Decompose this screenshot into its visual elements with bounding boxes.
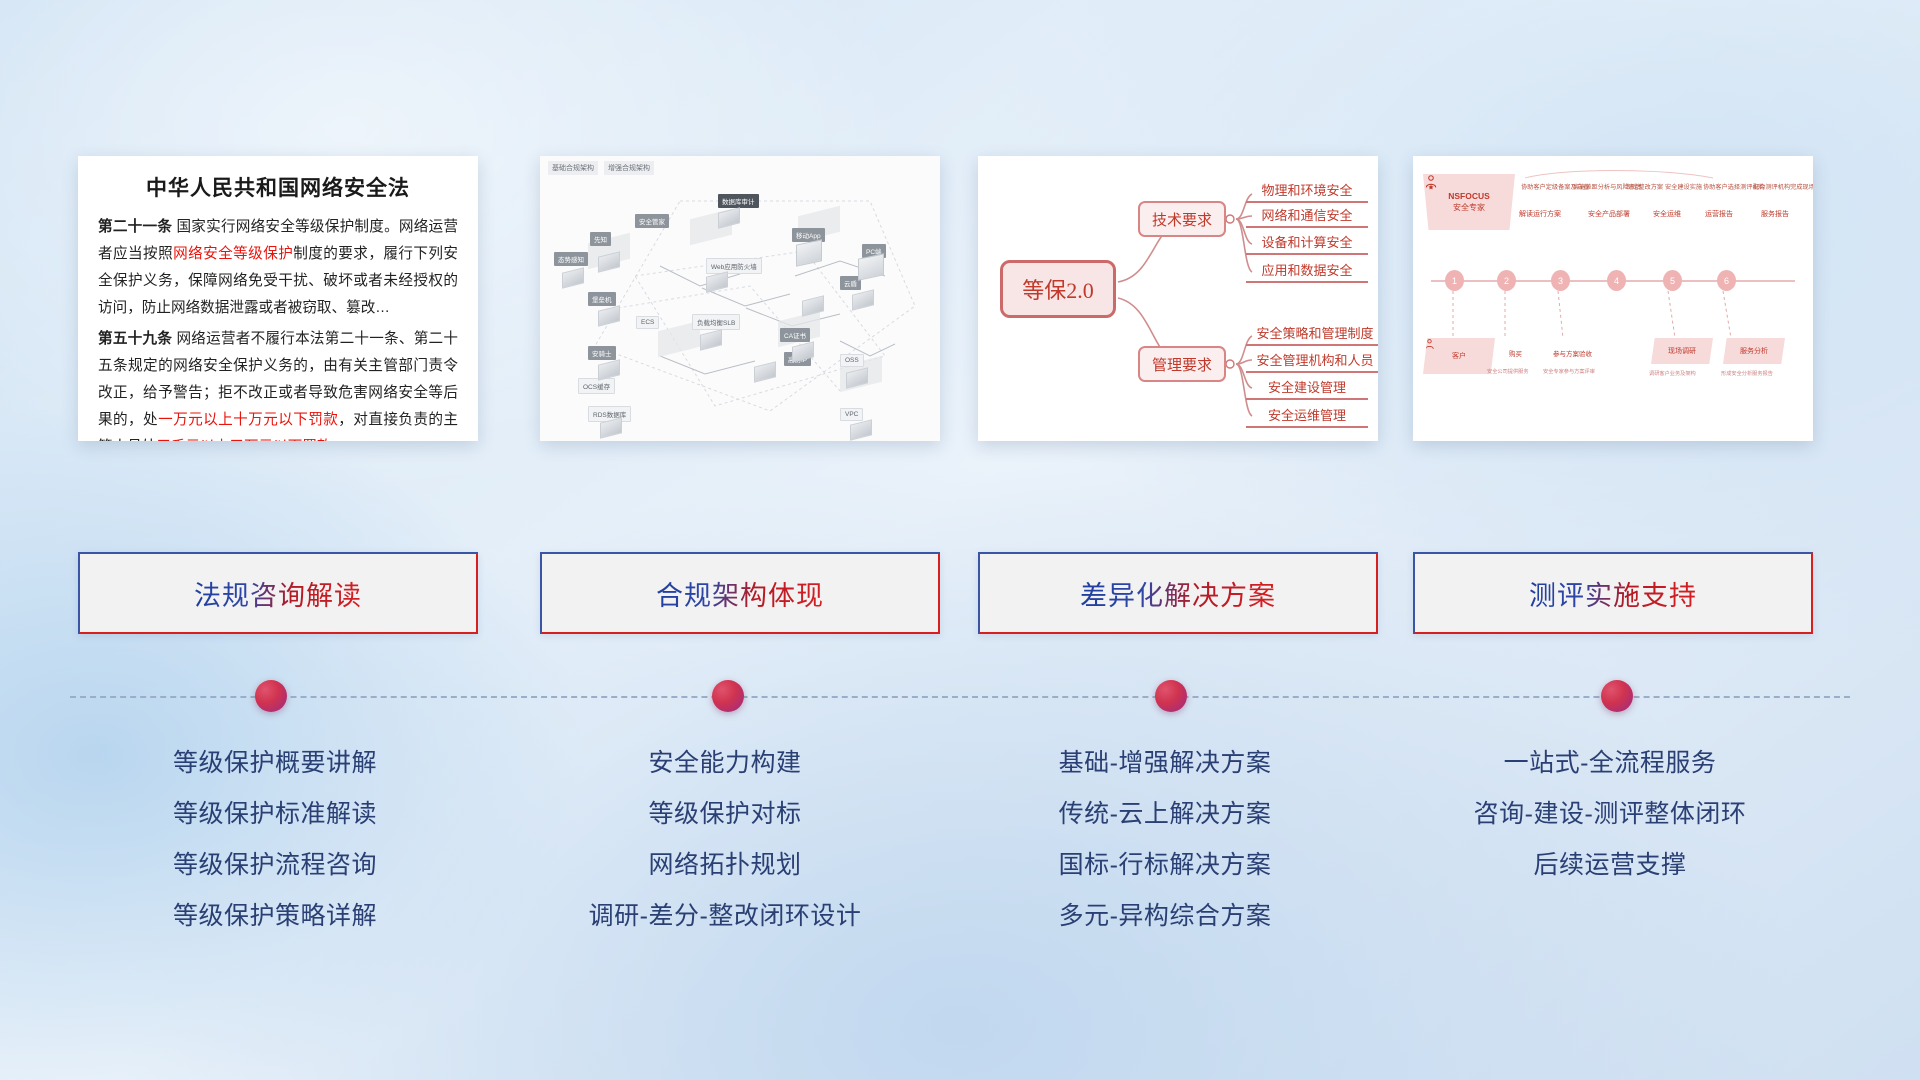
- timeline-step-3: 3: [1551, 270, 1570, 291]
- list-item: 等级保护标准解读: [60, 789, 490, 840]
- section-title-box-2[interactable]: 合规架构体现: [540, 552, 940, 634]
- arch-node-6: 安骑士: [588, 346, 616, 360]
- mind-map-leaf-mgmt-1: 安全管理机构和人员: [1246, 348, 1378, 373]
- nsfocus-brand-sub: 安全专家: [1453, 202, 1485, 213]
- article-59-label: 第五十九条: [98, 331, 172, 347]
- section-title-box-4[interactable]: 测评实施支持: [1413, 552, 1813, 634]
- image-card-row: 中华人民共和国网络安全法 第二十一条 国家实行网络安全等级保护制度。网络运营者应…: [0, 0, 1920, 440]
- detail-column-2: 安全能力构建 等级保护对标 网络拓扑规划 调研-差分-整改闭环设计: [510, 738, 940, 942]
- mind-map-canvas: 等保2.0 技术要求 管理要求 物理和环境安全 网络和通信安全 设备和计算安全 …: [978, 156, 1378, 441]
- arch-node-5: ECS: [636, 316, 659, 329]
- mind-map-leaf-mgmt-2: 安全建设管理: [1246, 375, 1368, 400]
- list-item: 基础-增强解决方案: [950, 738, 1380, 789]
- infographic-stage: 中华人民共和国网络安全法 第二十一条 国家实行网络安全等级保护制度。网络运营者应…: [0, 0, 1920, 1080]
- list-item: 安全能力构建: [510, 738, 940, 789]
- timeline-br-chip-1: 服务分析: [1723, 338, 1785, 364]
- list-item: 后续运营支撑: [1395, 840, 1825, 891]
- nsfocus-brand-name: NSFOCUS: [1448, 191, 1490, 201]
- arch-node-13: OSS: [840, 354, 864, 367]
- timeline-customer-box: 客户: [1423, 338, 1495, 374]
- card-law-document[interactable]: 中华人民共和国网络安全法 第二十一条 国家实行网络安全等级保护制度。网络运营者应…: [78, 156, 478, 441]
- timeline-node-1[interactable]: [255, 680, 287, 712]
- section-title-label-1: 法规咨询解读: [194, 574, 362, 613]
- law-document-body: 中华人民共和国网络安全法 第二十一条 国家实行网络安全等级保护制度。网络运营者应…: [78, 156, 478, 441]
- timeline-bl-chip-0: 购买: [1509, 348, 1522, 358]
- mind-map-branch-tech: 技术要求: [1138, 201, 1226, 237]
- arch-node-0: 数据库审计: [718, 194, 759, 208]
- list-item: 咨询-建设-测评整体闭环: [1395, 789, 1825, 840]
- timeline-axis: [70, 696, 1850, 698]
- list-item: 等级保护对标: [510, 789, 940, 840]
- timeline-chip-1: 安全产品部署: [1588, 209, 1630, 219]
- timeline-br-sub-1: 形成安全分析服务报告: [1721, 370, 1773, 377]
- security-expert-icon: [1423, 174, 1439, 190]
- arch-node-14: VPC: [840, 408, 863, 421]
- article-59-highlight: 一万元以上十万元以下罚款: [158, 412, 338, 428]
- timeline-top-label-5: 配合测评机构完成现场测评与整改: [1753, 182, 1813, 191]
- section-title-label-3: 差异化解决方案: [1080, 574, 1276, 613]
- article-59-highlight-2: 五千元以上五万元以下罚款。: [156, 439, 346, 441]
- arch-node-10: Web应用防火墙: [706, 258, 762, 274]
- arch-node-3: 态势感知: [554, 252, 588, 266]
- timeline-step-6: 6: [1717, 270, 1736, 291]
- list-item: 国标-行标解决方案: [950, 840, 1380, 891]
- list-item: 调研-差分-整改闭环设计: [510, 891, 940, 942]
- mind-map-leaf-tech-0: 物理和环境安全: [1246, 178, 1368, 203]
- detail-column-1: 等级保护概要讲解 等级保护标准解读 等级保护流程咨询 等级保护策略详解: [60, 738, 490, 942]
- mind-map-branch-mgmt: 管理要求: [1138, 346, 1226, 382]
- list-item: 等级保护策略详解: [60, 891, 490, 942]
- timeline-node-2[interactable]: [712, 680, 744, 712]
- mind-map-leaf-tech-1: 网络和通信安全: [1246, 203, 1368, 228]
- article-21-highlight: 网络安全等级保护: [173, 246, 293, 262]
- arch-node-4: 堡垒机: [588, 292, 616, 306]
- timeline-bl-sub-0: 安全公司提供服务: [1487, 368, 1529, 375]
- arch-node-2: 先知: [590, 232, 611, 246]
- architecture-canvas: 基础合规架构 增强合规架构: [540, 156, 940, 441]
- card-service-timeline[interactable]: NSFOCUS 安全专家 协助客户定级备案及自查 实施差距分析与风险评估 制定整…: [1413, 156, 1813, 441]
- detail-column-3: 基础-增强解决方案 传统-云上解决方案 国标-行标解决方案 多元-异构综合方案: [950, 738, 1380, 942]
- timeline-step-2: 2: [1497, 270, 1516, 291]
- timeline-chip-4: 服务报告: [1761, 209, 1789, 219]
- detail-column-4: 一站式-全流程服务 咨询-建设-测评整体闭环 后续运营支撑: [1395, 738, 1825, 891]
- mind-map-leaf-mgmt-3: 安全运维管理: [1246, 403, 1368, 428]
- section-title-label-4: 测评实施支持: [1529, 574, 1697, 613]
- list-item: 一站式-全流程服务: [1395, 738, 1825, 789]
- service-timeline-canvas: NSFOCUS 安全专家 协助客户定级备案及自查 实施差距分析与风险评估 制定整…: [1413, 156, 1813, 441]
- law-title: 中华人民共和国网络安全法: [98, 172, 458, 202]
- timeline-top-label-3: 安全建设实施: [1665, 182, 1702, 191]
- arch-node-1: 安全管家: [635, 214, 669, 228]
- timeline-customer-label: 客户: [1452, 351, 1466, 361]
- list-item: 多元-异构综合方案: [950, 891, 1380, 942]
- nsfocus-brand-banner: NSFOCUS 安全专家: [1423, 174, 1515, 230]
- timeline-chip-3: 运营报告: [1705, 209, 1733, 219]
- list-item: 等级保护流程咨询: [60, 840, 490, 891]
- timeline-br-sub-0: 调研客户业务及架构: [1649, 370, 1696, 377]
- section-title-box-3[interactable]: 差异化解决方案: [978, 552, 1378, 634]
- law-article-59: 第五十九条 网络运营者不履行本法第二十一条、第二十五条规定的网络安全保护义务的，…: [98, 326, 458, 441]
- timeline-step-5: 5: [1663, 270, 1682, 291]
- arch-node-11: CA证书: [780, 328, 810, 342]
- card-architecture-diagram[interactable]: 基础合规架构 增强合规架构: [540, 156, 940, 441]
- arch-node-9: 负载均衡SLB: [692, 314, 740, 330]
- article-21-label: 第二十一条: [98, 219, 172, 235]
- timeline-node-4[interactable]: [1601, 680, 1633, 712]
- timeline-step-1: 1: [1445, 270, 1464, 291]
- timeline-chip-2: 安全运维: [1653, 209, 1681, 219]
- timeline-node-3[interactable]: [1155, 680, 1187, 712]
- mind-map-leaf-mgmt-0: 安全策略和管理制度: [1246, 321, 1378, 346]
- timeline-br-chip-0: 现场调研: [1651, 338, 1713, 364]
- card-mind-map[interactable]: 等保2.0 技术要求 管理要求 物理和环境安全 网络和通信安全 设备和计算安全 …: [978, 156, 1378, 441]
- list-item: 网络拓扑规划: [510, 840, 940, 891]
- arch-node-7: OCS缓存: [578, 378, 615, 394]
- mind-map-leaf-tech-2: 设备和计算安全: [1246, 230, 1368, 255]
- timeline-bl-chip-1: 参与方案验收: [1553, 348, 1592, 358]
- section-title-label-2: 合规架构体现: [656, 574, 824, 613]
- section-title-box-1[interactable]: 法规咨询解读: [78, 552, 478, 634]
- timeline-step-4: 4: [1607, 270, 1626, 291]
- mind-map-leaf-tech-3: 应用和数据安全: [1246, 258, 1368, 283]
- timeline-top-label-2: 制定整改方案: [1626, 182, 1663, 191]
- timeline-bl-sub-1: 安全专家参与方案评审: [1543, 368, 1595, 375]
- timeline-chip-0: 解读运行方案: [1519, 209, 1561, 219]
- list-item: 等级保护概要讲解: [60, 738, 490, 789]
- list-item: 传统-云上解决方案: [950, 789, 1380, 840]
- mind-map-root: 等保2.0: [1000, 260, 1116, 318]
- law-article-21: 第二十一条 国家实行网络安全等级保护制度。网络运营者应当按照网络安全等级保护制度…: [98, 214, 458, 322]
